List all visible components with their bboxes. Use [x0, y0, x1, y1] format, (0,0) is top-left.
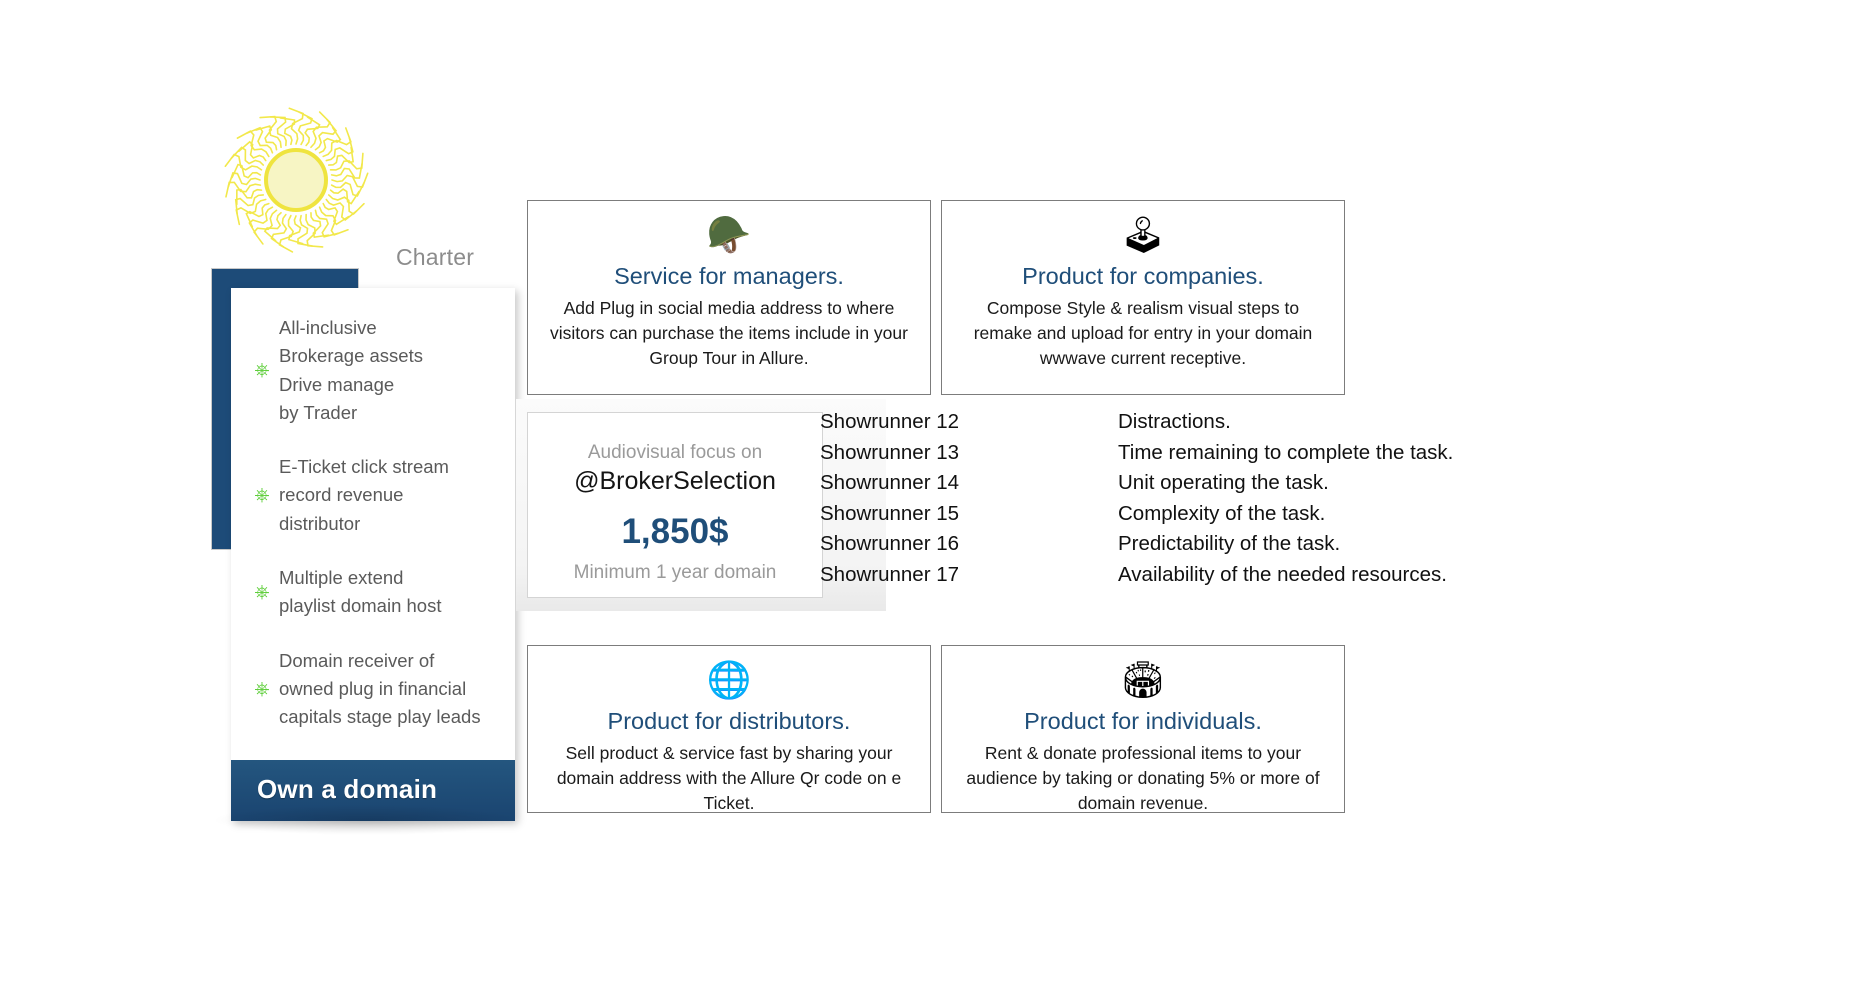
- list-item-label: E-Ticket click stream record revenue dis…: [279, 453, 449, 538]
- list-item: Showrunner 16: [820, 529, 959, 560]
- showrunner-list: Showrunner 12 Showrunner 13 Showrunner 1…: [820, 407, 959, 590]
- power-icon: ⎈: [245, 680, 279, 699]
- card-body: Sell product & service fast by sharing y…: [542, 741, 916, 816]
- feature-list: ⎈ All-inclusive Brokerage assets Drive m…: [231, 288, 515, 760]
- list-item: Showrunner 13: [820, 438, 959, 469]
- card-title: Service for managers.: [542, 263, 916, 290]
- list-item-label: Domain receiver of owned plug in financi…: [279, 647, 481, 732]
- list-item: Unit operating the task.: [1118, 468, 1453, 499]
- power-icon: ⎈: [245, 361, 279, 380]
- power-icon: ⎈: [245, 486, 279, 505]
- sun-icon: [216, 100, 376, 260]
- card-title: Product for distributors.: [542, 708, 916, 735]
- list-item: Showrunner 15: [820, 499, 959, 530]
- power-icon: ⎈: [245, 583, 279, 602]
- card-product-for-individuals[interactable]: 🏟 Product for individuals. Rent & donate…: [941, 645, 1345, 813]
- card-product-for-companies[interactable]: 🕹 Product for companies. Compose Style &…: [941, 200, 1345, 395]
- list-item: Distractions.: [1118, 407, 1453, 438]
- stadium-icon: 🏟: [956, 660, 1330, 704]
- list-item: Time remaining to complete the task.: [1118, 438, 1453, 469]
- pricing-eyebrow: Audiovisual focus on: [528, 441, 822, 465]
- card-product-for-distributors[interactable]: 🌐 Product for distributors. Sell product…: [527, 645, 931, 813]
- list-item[interactable]: ⎈ Multiple extend playlist domain host: [245, 564, 501, 621]
- list-item: Showrunner 17: [820, 560, 959, 591]
- card-body: Rent & donate professional items to your…: [956, 741, 1330, 816]
- card-title: Product for individuals.: [956, 708, 1330, 735]
- charter-label: Charter: [396, 244, 474, 271]
- list-item: Showrunner 14: [820, 468, 959, 499]
- pricing-handle: @BrokerSelection: [528, 466, 822, 497]
- list-item[interactable]: ⎈ Domain receiver of owned plug in finan…: [245, 647, 501, 732]
- pricing-panel[interactable]: Audiovisual focus on @BrokerSelection 1,…: [527, 412, 823, 598]
- pricing-amount: 1,850$: [528, 513, 822, 552]
- card-body: Compose Style & realism visual steps to …: [956, 296, 1330, 371]
- joystick-icon: 🕹: [956, 215, 1330, 259]
- card-title: Product for companies.: [956, 263, 1330, 290]
- list-item: Availability of the needed resources.: [1118, 560, 1453, 591]
- military-helmet-icon: 🪖: [542, 215, 916, 259]
- stack-shadow: [216, 805, 516, 835]
- list-item: Complexity of the task.: [1118, 499, 1453, 530]
- card-body: Add Plug in social media address to wher…: [542, 296, 916, 371]
- list-item: Showrunner 12: [820, 407, 959, 438]
- list-item-label: All-inclusive Brokerage assets Drive man…: [279, 314, 423, 427]
- list-item-label: Multiple extend playlist domain host: [279, 564, 441, 621]
- card-service-for-managers[interactable]: 🪖 Service for managers. Add Plug in soci…: [527, 200, 931, 395]
- pricing-note: Minimum 1 year domain: [528, 562, 822, 584]
- list-item[interactable]: ⎈ E-Ticket click stream record revenue d…: [245, 453, 501, 538]
- list-item: Predictability of the task.: [1118, 529, 1453, 560]
- feature-popup: ⎈ All-inclusive Brokerage assets Drive m…: [231, 288, 515, 821]
- globe-icon: 🌐: [542, 660, 916, 704]
- list-item[interactable]: ⎈ All-inclusive Brokerage assets Drive m…: [245, 314, 501, 427]
- factors-list: Distractions. Time remaining to complete…: [1118, 407, 1453, 590]
